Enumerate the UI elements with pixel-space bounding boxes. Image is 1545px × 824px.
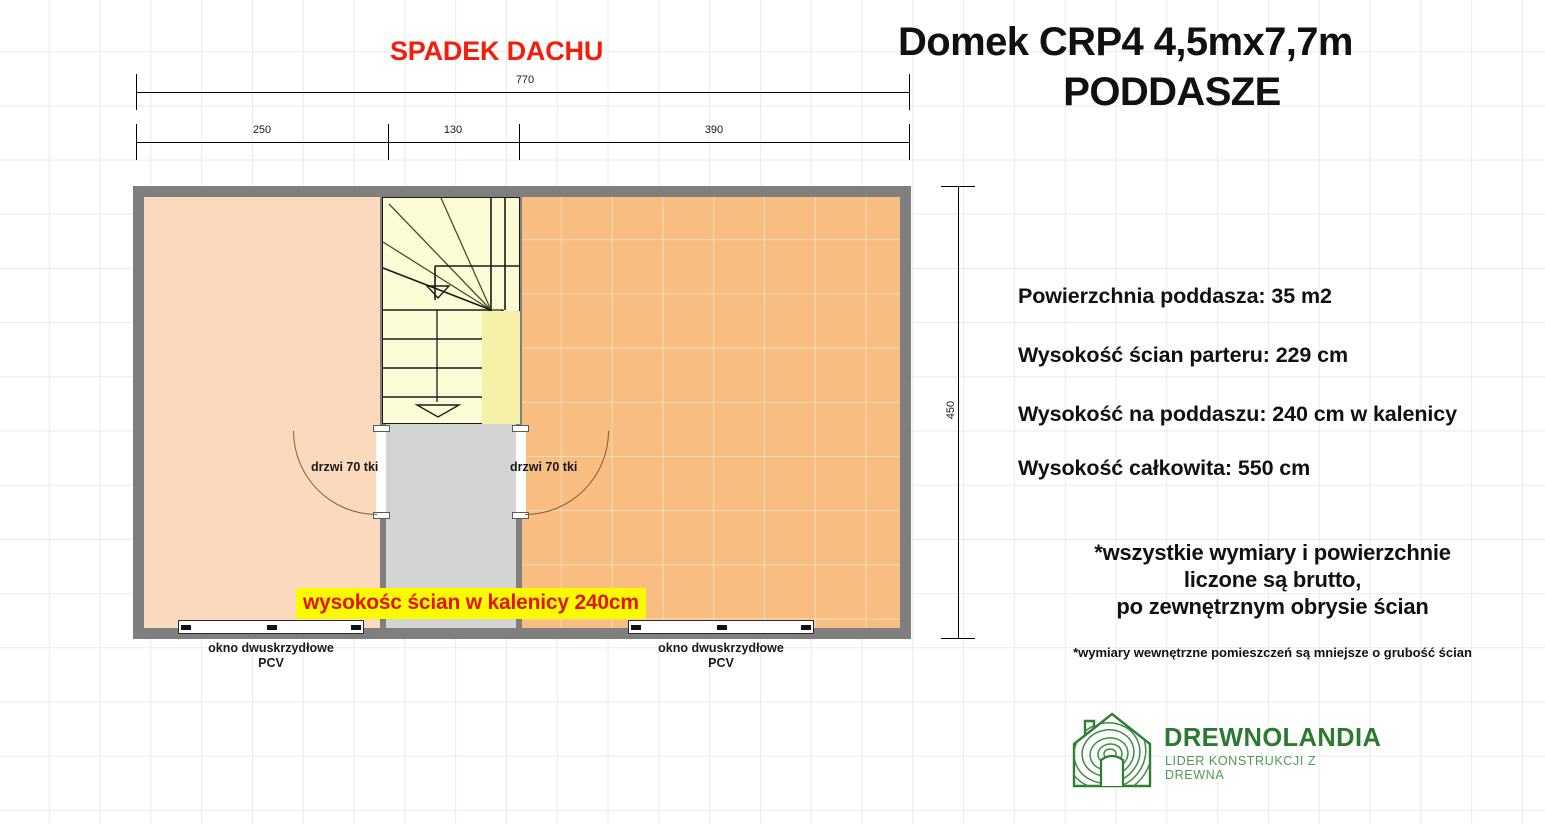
spec-attic-area: Powierzchnia poddasza: 35 m2 [1018, 284, 1332, 309]
note-line-1: *wszystkie wymiary i powierzchnie [1005, 540, 1540, 567]
dim-height-label: 450 [945, 390, 957, 430]
floor-plan-page: SPADEK DACHU Domek CRP4 4,5mx7,7m PODDAS… [0, 0, 1545, 824]
door-left-label: drzwi 70 tki [311, 460, 378, 474]
dim-segments-line [136, 142, 910, 143]
spec-ground-wall-height: Wysokość ścian parteru: 229 cm [1018, 343, 1348, 368]
window-left-mullion-end [351, 625, 361, 630]
spec-attic-height: Wysokość na poddaszu: 240 cm w kalenicy [1018, 402, 1457, 427]
note-line-3: po zewnętrznym obrysie ścian [1005, 594, 1540, 621]
window-left-label: okno dwuskrzydłowe PCV [178, 641, 364, 671]
room-left-attic [144, 197, 380, 628]
gross-dimensions-note: *wszystkie wymiary i powierzchnie liczon… [1005, 540, 1540, 620]
window-left-label-line1: okno dwuskrzydłowe [208, 641, 334, 655]
company-logo: DREWNOLANDIA LIDER KONSTRUKCJI Z DREWNA [1068, 708, 1378, 790]
title-line-2: PODDASZE [898, 68, 1538, 118]
dim-overall-label: 770 [470, 74, 580, 86]
dim-seg-tick-2 [519, 124, 520, 160]
interior-dimensions-note: *wymiary wewnętrzne pomieszczeń są mniej… [1005, 645, 1540, 660]
window-right-mullion-start [631, 625, 641, 630]
stairwell-opening [482, 311, 520, 424]
note-line-2: liczone są brutto, [1005, 567, 1540, 594]
dim-segment-label-390: 390 [659, 124, 769, 136]
logo-tagline: LIDER KONSTRUKCJI Z DREWNA [1165, 754, 1378, 782]
dim-segment-label-250: 250 [207, 124, 317, 136]
dim-seg-tick-1 [388, 124, 389, 160]
floor-plan-drawing: drzwi 70 tki drzwi 70 tki okno dwuskrzyd… [133, 186, 911, 639]
window-right-label-line2: PCV [708, 656, 734, 670]
title-line-1: Domek CRP4 4,5mx7,7m [898, 18, 1538, 68]
door-right-label: drzwi 70 tki [510, 460, 577, 474]
window-left [178, 620, 364, 634]
house-tree-rings-icon [1068, 710, 1156, 790]
window-right-label: okno dwuskrzydłowe PCV [628, 641, 814, 671]
dim-height-line [958, 186, 959, 639]
window-right-mullion-mid [717, 625, 727, 630]
dim-seg-tick-0 [136, 124, 137, 160]
dim-height-tick-bottom [941, 638, 975, 639]
spec-total-height: Wysokość całkowita: 550 cm [1018, 456, 1310, 481]
window-right-mullion-end [801, 625, 811, 630]
dim-overall-line [136, 92, 910, 93]
window-left-mullion-mid [267, 625, 277, 630]
window-right-label-line1: okno dwuskrzydłowe [658, 641, 784, 655]
dim-overall-tick-left [136, 74, 137, 110]
dim-height-tick-top [941, 186, 975, 187]
ridge-height-banner: wysokośc ścian w kalenicy 240cm [296, 588, 646, 619]
window-left-label-line2: PCV [258, 656, 284, 670]
room-right-attic [522, 197, 900, 628]
window-right [628, 620, 814, 634]
dim-segment-label-130: 130 [398, 124, 508, 136]
dim-seg-tick-3 [909, 124, 910, 160]
dim-overall-tick-right [909, 74, 910, 110]
window-left-mullion-start [181, 625, 191, 630]
page-title: Domek CRP4 4,5mx7,7m PODDASZE [898, 18, 1538, 117]
roof-slope-label: SPADEK DACHU [390, 36, 603, 67]
logo-name: DREWNOLANDIA [1164, 724, 1381, 753]
